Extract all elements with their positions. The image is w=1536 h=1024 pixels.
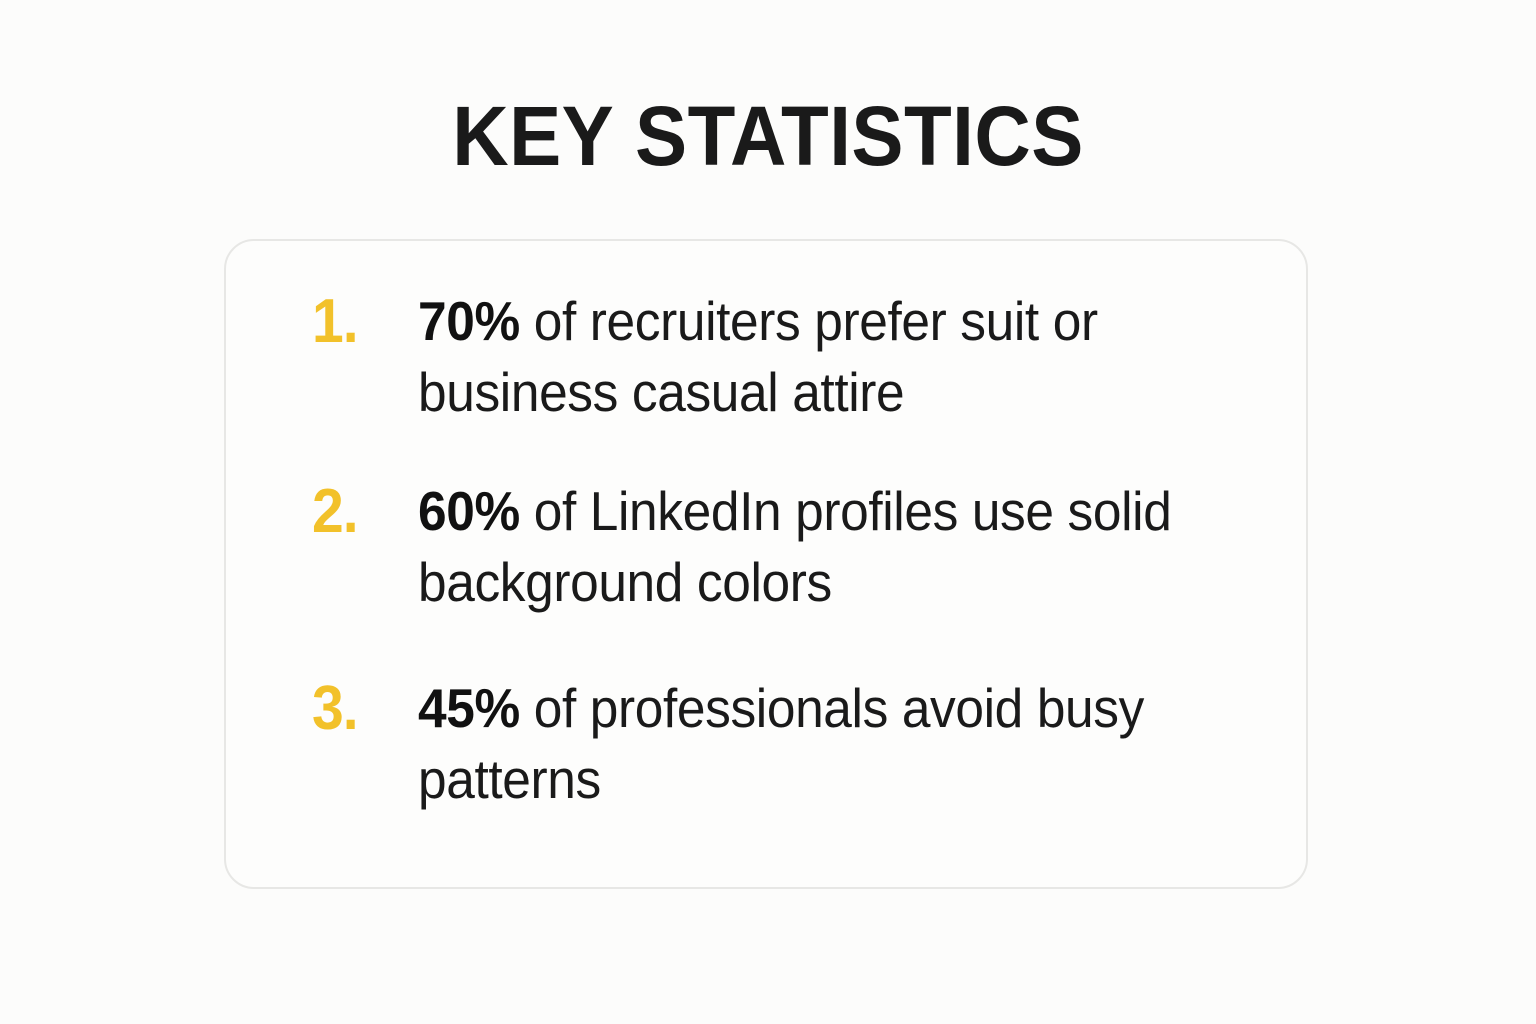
list-item-number: 1. [312,286,410,358]
list-item: 3. 45% of professionals avoid busy patte… [312,673,1252,815]
list-item-description: of recruiters prefer suit or business ca… [418,290,1098,423]
page-title: KEY STATISTICS [54,88,1482,184]
list-item-percent: 70% [418,290,520,352]
list-item-percent: 60% [418,480,520,542]
page-root: KEY STATISTICS 1. 70% of recruiters pref… [0,0,1536,1024]
list-item-description: of LinkedIn profiles use solid backgroun… [418,480,1171,613]
list-item-number: 2. [312,476,410,548]
list-item-number: 3. [312,673,410,745]
key-statistics-card: 1. 70% of recruiters prefer suit or busi… [224,239,1308,889]
list-item-text: 45% of professionals avoid busy patterns [418,673,1198,815]
list-item: 1. 70% of recruiters prefer suit or busi… [312,286,1252,428]
list-item-description: of professionals avoid busy patterns [418,677,1144,810]
list-item-text: 60% of LinkedIn profiles use solid backg… [418,476,1198,618]
list-item-text: 70% of recruiters prefer suit or busines… [418,286,1198,428]
list-item-percent: 45% [418,677,520,739]
statistics-list: 1. 70% of recruiters prefer suit or busi… [226,241,1306,887]
list-item: 2. 60% of LinkedIn profiles use solid ba… [312,476,1252,618]
